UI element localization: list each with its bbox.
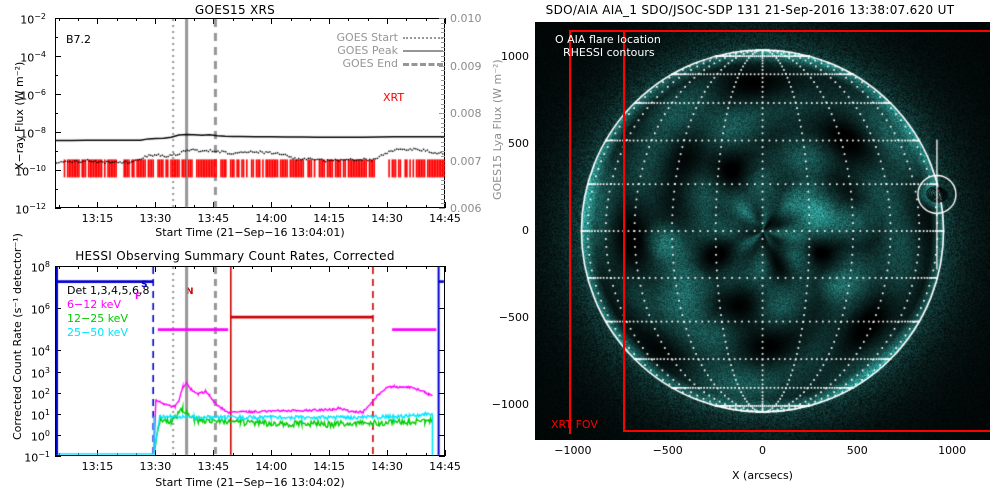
goes-right-ytick-3: 0.007	[450, 156, 482, 167]
sun-xtick-2: 0	[741, 445, 785, 456]
hessi-xtick-14:45: 14:45	[428, 461, 462, 472]
rhessi-contours-annotation: RHESSI contours	[563, 47, 655, 58]
sun-xtick-3: 500	[835, 445, 879, 456]
sun-xtick-1: −500	[646, 445, 690, 456]
goes-xtick-14:30: 14:30	[370, 213, 404, 224]
goes-panel-title: GOES15 XRS	[0, 4, 470, 16]
goes-right-ytick-2: 0.008	[450, 108, 482, 119]
sun-ytick-4: −1000	[483, 399, 529, 410]
hessi-data-canvas	[56, 267, 446, 457]
hessi-xtick-13:45: 13:45	[196, 461, 230, 472]
sun-xtick-0: −1000	[551, 445, 595, 456]
goes-x-axis-title: Start Time (21−Sep−16 13:04:01)	[55, 227, 445, 238]
xrt-fov-top-edge	[569, 30, 990, 32]
sun-image	[535, 22, 990, 440]
goes-xtick-14:00: 14:00	[254, 213, 288, 224]
goes-ytick--12: 10−12	[12, 203, 46, 216]
goes-xtick-13:15: 13:15	[80, 213, 114, 224]
goes-data-canvas	[56, 19, 446, 209]
goes-ytick--2: 10−2	[12, 13, 46, 26]
sun-xtick-4: 1000	[930, 445, 974, 456]
hessi-y-axis-title: Corrected Count Rate (s⁻¹ detector⁻¹)	[12, 233, 23, 440]
xrt-fov-annotation: XRT FOV	[551, 419, 598, 430]
xrt-fov-bottom-edge	[623, 430, 990, 432]
goes-xtick-13:30: 13:30	[138, 213, 172, 224]
goes-y-axis-title: X−ray Flux (W m⁻²)	[14, 62, 25, 170]
goes-xtick-14:15: 14:15	[312, 213, 346, 224]
hessi-panel-title: HESSI Observing Summary Count Rates, Cor…	[0, 250, 470, 262]
screenshot-root: GOES15 XRS 10−210−410−610−810−1010−12 0.…	[0, 0, 1000, 500]
aia-flare-location-annotation: O AIA flare location	[555, 34, 661, 45]
sun-ytick-2: 0	[483, 225, 529, 236]
goes-right-y-axis-title: GOES15 Lya Flux (W m⁻²)	[492, 59, 503, 200]
hessi-xtick-14:00: 14:00	[254, 461, 288, 472]
goes-right-ytick-0: 0.010	[450, 13, 482, 24]
goes-xtick-13:45: 13:45	[196, 213, 230, 224]
goes-xtick-14:45: 14:45	[428, 213, 462, 224]
xrt-fov-left-edge	[569, 30, 571, 434]
sun-ytick-0: 1000	[483, 51, 529, 62]
hessi-xtick-13:15: 13:15	[80, 461, 114, 472]
hessi-x-axis-title: Start Time (21−Sep−16 13:04:02)	[55, 477, 445, 488]
sun-panel-title: SDO/AIA AIA_1 SDO/JSOC-SDP 131 21-Sep-20…	[500, 4, 1000, 16]
hessi-xtick-14:30: 14:30	[370, 461, 404, 472]
sun-ytick-3: −500	[483, 312, 529, 323]
sun-x-axis-title: X (arcsecs)	[535, 470, 990, 481]
sun-image-canvas	[535, 22, 990, 440]
hessi-ytick--1: 10−1	[16, 451, 50, 464]
hessi-xtick-14:15: 14:15	[312, 461, 346, 472]
xrt-fov-inner-left-edge	[623, 32, 625, 432]
goes-right-ytick-1: 0.009	[450, 61, 482, 72]
sun-ytick-1: 500	[483, 138, 529, 149]
hessi-xtick-13:30: 13:30	[138, 461, 172, 472]
